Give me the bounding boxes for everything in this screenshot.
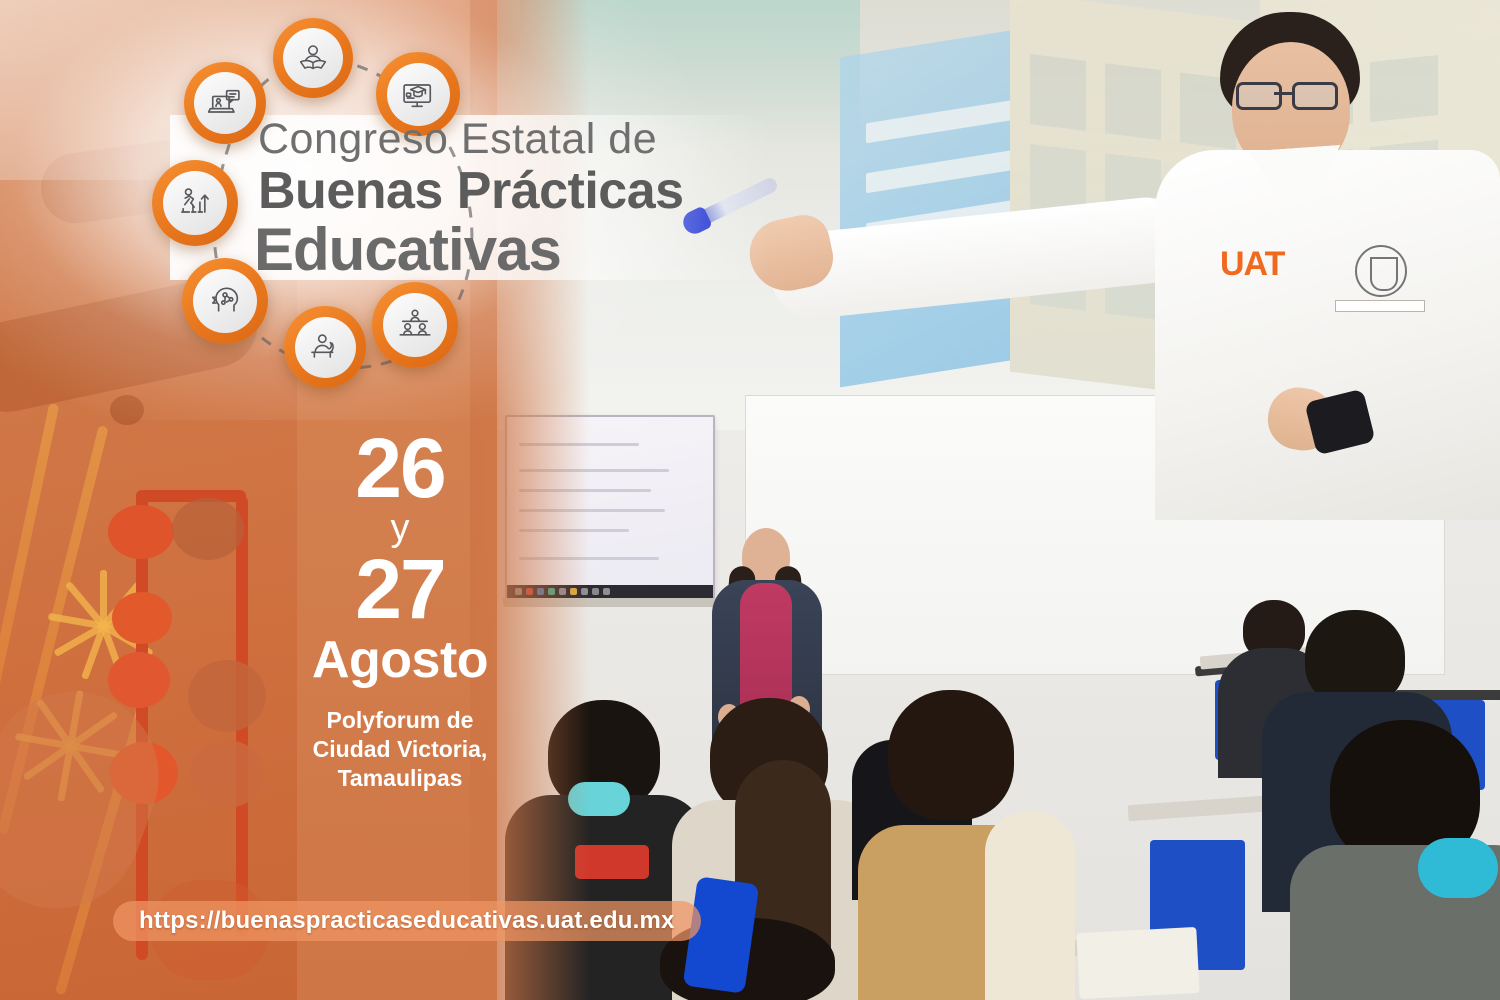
projection-screen bbox=[505, 415, 715, 600]
projection-screen-base bbox=[503, 598, 717, 607]
name-badge bbox=[1335, 300, 1425, 312]
pencil-case bbox=[575, 845, 649, 879]
title-line-1: Congreso Estatal de bbox=[258, 118, 728, 161]
icon-circle-participation[interactable] bbox=[284, 306, 366, 388]
poster-root: UAT bbox=[0, 0, 1500, 1000]
teacher-glasses-bridge bbox=[1274, 92, 1292, 95]
online-class-laptop-icon bbox=[207, 85, 243, 121]
title-line-2: Buenas Prácticas bbox=[258, 165, 728, 217]
notebook bbox=[1076, 927, 1199, 999]
event-month: Agosto bbox=[300, 632, 500, 689]
student-raising-hand-icon bbox=[308, 330, 343, 365]
venue-line-1: Polyforum de bbox=[300, 706, 500, 735]
event-venue: Polyforum de Ciudad Victoria, Tamaulipas bbox=[300, 706, 500, 794]
teacher-glasses-right bbox=[1292, 82, 1338, 110]
event-day-2: 27 bbox=[300, 551, 500, 628]
uat-crest-icon bbox=[1355, 245, 1407, 297]
venue-line-3: Tamaulipas bbox=[300, 764, 500, 793]
icon-circle-growth[interactable] bbox=[152, 160, 238, 246]
poster-title-block: Congreso Estatal de Buenas Prácticas Edu… bbox=[258, 118, 728, 280]
teacher-glasses-left bbox=[1236, 82, 1282, 110]
uat-logo: UAT bbox=[1220, 245, 1284, 284]
event-date-block: 26 y 27 Agosto Polyforum de Ciudad Victo… bbox=[300, 430, 500, 794]
icon-circle-reading[interactable] bbox=[273, 18, 353, 98]
person-growth-chart-icon bbox=[177, 185, 213, 221]
teacher-figure: UAT bbox=[1060, 0, 1500, 520]
screen-taskbar bbox=[507, 585, 713, 598]
head-circuit-ai-icon bbox=[207, 283, 243, 319]
teacher-shirt bbox=[1155, 150, 1500, 520]
person-reading-book-icon bbox=[296, 41, 330, 75]
icon-circle-online-class[interactable] bbox=[184, 62, 266, 144]
event-url-text: https://buenaspracticaseducativas.uat.ed… bbox=[139, 907, 675, 935]
event-day-1: 26 bbox=[300, 430, 500, 507]
venue-line-2: Ciudad Victoria, bbox=[300, 735, 500, 764]
event-url-pill[interactable]: https://buenaspracticaseducativas.uat.ed… bbox=[113, 901, 701, 941]
icon-circle-classroom[interactable] bbox=[372, 282, 458, 368]
teacher-with-students-icon bbox=[397, 307, 433, 343]
monitor-graduation-cap-icon bbox=[400, 76, 436, 112]
title-line-3: Educativas bbox=[254, 219, 728, 280]
